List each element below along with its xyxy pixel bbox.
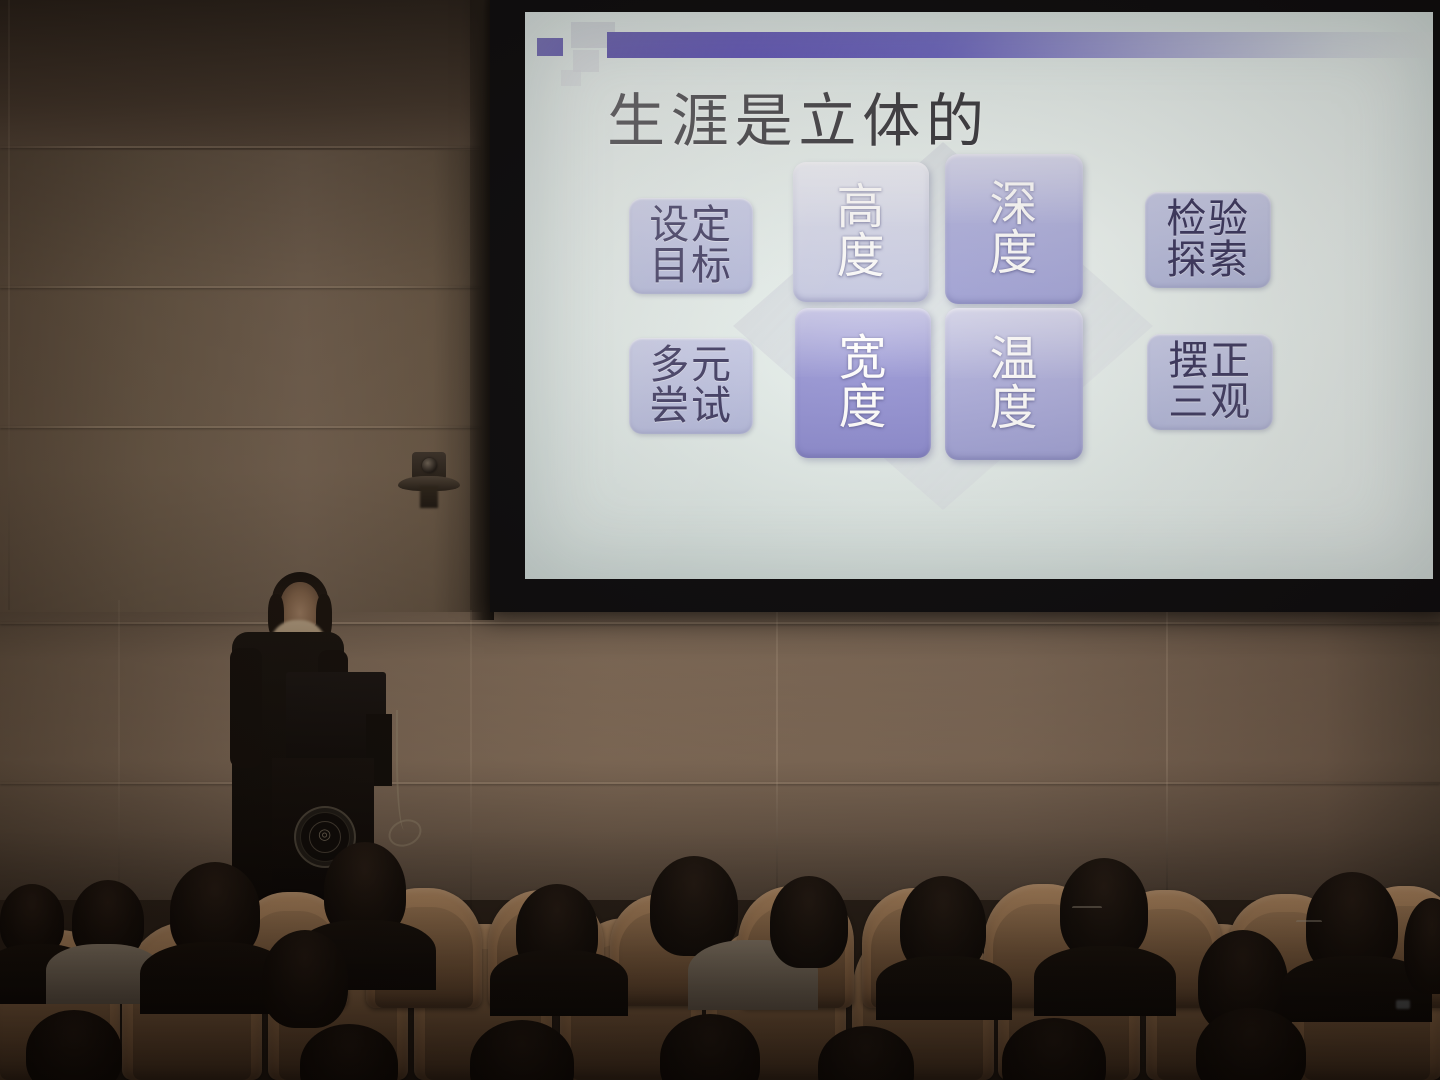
audience-glasses-icon	[1296, 920, 1322, 924]
box-line-1: 温	[990, 335, 1039, 384]
wall-seam	[8, 0, 10, 610]
box-width: 宽 度	[795, 308, 931, 458]
box-height: 高 度	[793, 162, 929, 302]
deco-square-dark	[537, 38, 563, 56]
camera-lens	[422, 458, 437, 473]
speaker-arm-left	[230, 648, 262, 768]
wall-seam	[0, 286, 492, 288]
audience-glasses-icon	[1072, 906, 1102, 910]
projection-screen-frame: 生涯是立体的 设定 目标 多元 尝试 高 度 深 度 宽	[490, 0, 1440, 612]
box-diverse-attempts: 多元 尝试	[629, 338, 753, 434]
wall-seam	[118, 600, 120, 900]
box-line-1: 高	[837, 183, 886, 232]
box-line-2: 目标	[649, 246, 732, 287]
phone-screen-glow	[1396, 1000, 1410, 1009]
audience-shoulders	[490, 950, 628, 1016]
deco-square-gray-b	[573, 50, 599, 72]
lower-wall	[0, 600, 1440, 900]
box-line-1: 深	[990, 180, 1039, 229]
wall-seam	[470, 610, 472, 910]
ptz-camera-icon	[398, 452, 462, 510]
box-line-2: 度	[990, 229, 1039, 278]
box-line-1: 检验	[1166, 199, 1249, 240]
audience-head	[262, 930, 348, 1028]
lecture-hall-photo: 生涯是立体的 设定 目标 多元 尝试 高 度 深 度 宽	[0, 0, 1440, 1080]
box-line-2: 探索	[1166, 240, 1249, 281]
box-line-2: 度	[990, 384, 1039, 433]
box-depth: 深 度	[945, 154, 1083, 304]
box-set-goals: 设定 目标	[629, 198, 753, 294]
deco-gradient-bar	[607, 32, 1433, 58]
box-line-1: 设定	[649, 205, 732, 246]
box-line-1: 宽	[839, 334, 888, 383]
box-line-1: 摆正	[1168, 341, 1251, 382]
box-test-explore: 检验 探索	[1145, 192, 1271, 288]
camera-arm	[420, 486, 438, 508]
projected-slide: 生涯是立体的 设定 目标 多元 尝试 高 度 深 度 宽	[525, 12, 1433, 579]
box-align-values: 摆正 三观	[1147, 334, 1273, 430]
box-temperature: 温 度	[945, 308, 1083, 460]
box-line-2: 度	[839, 383, 888, 432]
audience-shoulders	[1034, 946, 1176, 1016]
wall-seam	[0, 782, 1440, 784]
wall-seam	[0, 622, 1440, 624]
wall-seam	[0, 426, 492, 428]
box-line-1: 多元	[649, 345, 732, 386]
podium-cable	[396, 710, 410, 830]
wall-seam	[0, 146, 492, 148]
box-line-2: 三观	[1168, 382, 1251, 423]
slide-title: 生涯是立体的	[607, 74, 990, 158]
box-line-2: 度	[837, 232, 886, 281]
wall-seam	[776, 610, 778, 910]
wall-seam	[1166, 610, 1168, 910]
deco-square-gray-c	[561, 70, 581, 86]
audience-head	[770, 876, 848, 968]
emblem-glyph: ◎	[296, 825, 354, 843]
upper-wall-shadow	[0, 0, 492, 150]
audience-shoulders	[876, 956, 1012, 1020]
box-line-2: 尝试	[649, 386, 732, 427]
